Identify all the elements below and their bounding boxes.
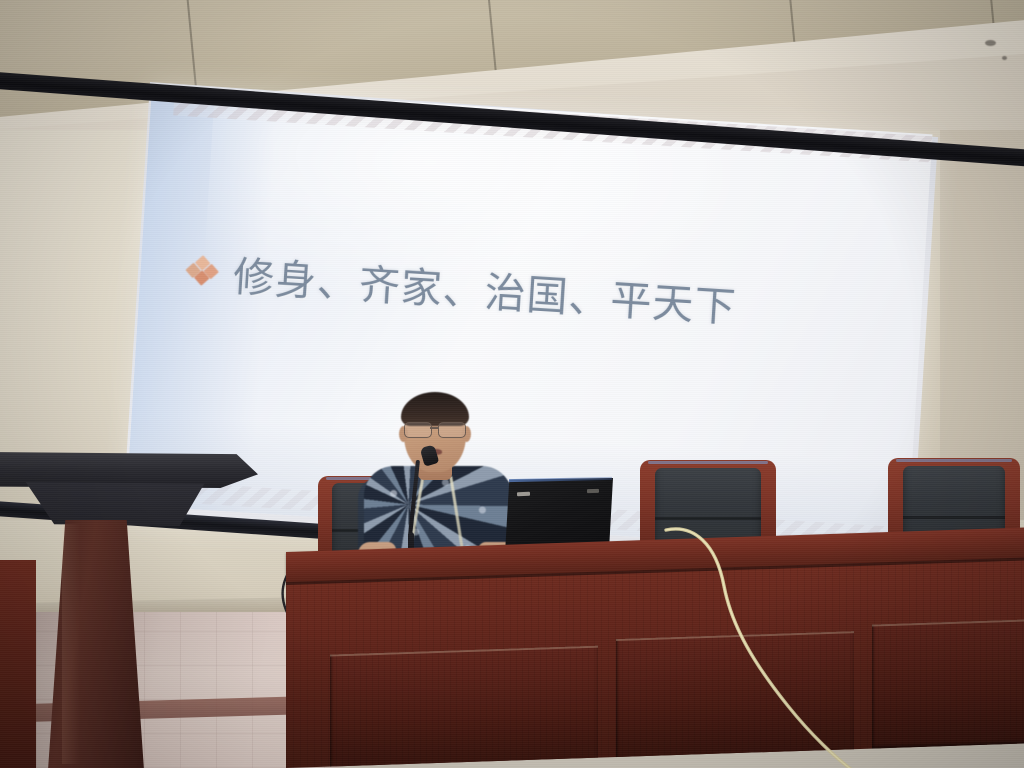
slide-title-row: 修身、齐家、治国、平天下 (186, 240, 739, 334)
lens-right (438, 422, 466, 438)
conference-desk (286, 552, 1024, 768)
desk-left-return (0, 560, 36, 768)
chair-highlight (896, 459, 1012, 462)
microphone-capsule (420, 444, 440, 466)
wall-seam (781, 0, 795, 42)
laptop-badge-icon (517, 492, 530, 496)
lectern-column-highlight (62, 524, 80, 764)
desk-panel-group (286, 558, 1024, 768)
eyeglasses-icon (402, 422, 468, 437)
desk-panel (616, 631, 854, 761)
lectern (0, 452, 270, 768)
wall-seam (980, 0, 994, 23)
slide-title-text: 修身、齐家、治国、平天下 (232, 243, 739, 334)
chair-highlight (648, 461, 768, 464)
lectern-neck (20, 482, 210, 526)
microphone-gooseneck (408, 460, 420, 538)
diamond-cluster-bullet-icon (187, 257, 219, 285)
hair (401, 392, 469, 426)
desk-panel (330, 646, 598, 768)
presentation-photo-scene: 修身、齐家、治国、平天下 (0, 0, 1024, 768)
desk-panel (872, 619, 1024, 749)
laptop-badge-secondary-icon (587, 489, 599, 493)
lens-left (404, 422, 432, 438)
